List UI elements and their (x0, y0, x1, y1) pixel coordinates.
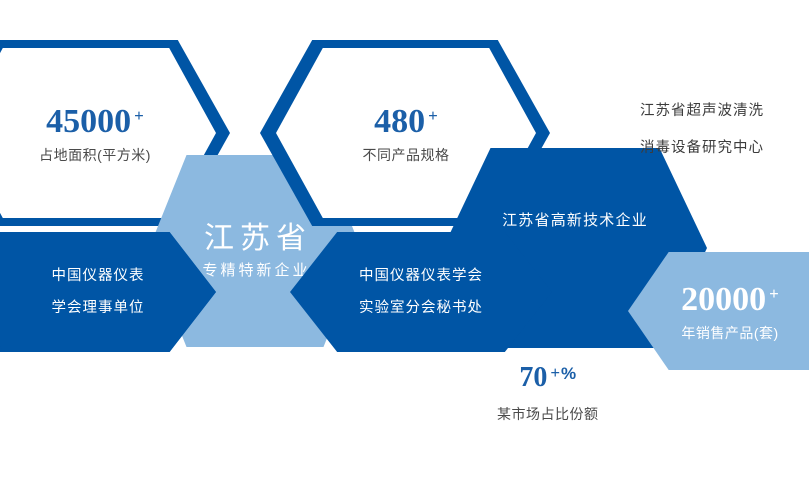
stat-specs-label: 不同产品规格 (363, 148, 450, 162)
stat-specs-number: 480+ (374, 105, 438, 139)
stat-specs: 480+ 不同产品规格 (363, 105, 450, 162)
high-tech-label: 江苏省高新技术企业 (502, 209, 648, 230)
stat-area-label: 占地面积(平方米) (39, 148, 151, 162)
research-center-line-1: 江苏省超声波清洗 (640, 104, 764, 119)
stat-market-share-superscript: + (550, 364, 560, 381)
research-center-text: 江苏省超声波清洗 消毒设备研究中心 (640, 104, 764, 155)
stat-market-share-number: 70+% (519, 362, 576, 394)
stat-area-superscript: + (134, 107, 144, 124)
stat-annual-sales-number: 20000+ (681, 283, 779, 317)
stat-annual-sales-value: 20000 (681, 283, 766, 317)
stat-specs-superscript: + (428, 107, 438, 124)
badge-subtitle: 专精特新企业 (199, 264, 310, 279)
stat-market-share-percent: % (561, 364, 576, 384)
hexagon-lab-branch: 中国仪器仪表学会 实验室分会秘书处 (290, 232, 552, 352)
stat-annual-sales-label: 年销售产品(套) (681, 326, 778, 340)
stat-market-share: 70+% 某市场占比份额 (497, 362, 599, 424)
research-center-line-2: 消毒设备研究中心 (640, 141, 764, 156)
stat-market-share-value: 70 (519, 362, 547, 394)
instrument-society-lines-top: 中国仪器仪表 学会理事单位 (30, 269, 145, 315)
instrument-society-line-1b: 中国仪器仪表 (52, 269, 145, 284)
research-center-lines: 江苏省超声波清洗 消毒设备研究中心 (640, 104, 764, 155)
badge-title: 江苏省 (198, 224, 312, 254)
stat-market-share-label: 某市场占比份额 (497, 404, 599, 424)
stat-area-value: 45000 (46, 105, 131, 139)
instrument-society-line-2b: 学会理事单位 (52, 301, 145, 316)
stat-annual-sales-superscript: + (769, 285, 779, 302)
stat-annual-sales: 20000+ 年销售产品(套) (681, 283, 801, 340)
lab-branch-line-2: 实验室分会秘书处 (359, 301, 483, 316)
stat-area: 45000+ 占地面积(平方米) (21, 105, 151, 162)
stat-area-number: 45000+ (46, 105, 144, 139)
stat-specs-value: 480 (374, 105, 425, 139)
infographic-canvas: 45000+ 占地面积(平方米) 江苏省 专精特新企业 480+ 不同产品规格 … (0, 0, 809, 487)
lab-branch-lines: 中国仪器仪表学会 实验室分会秘书处 (359, 269, 483, 315)
lab-branch-line-1: 中国仪器仪表学会 (359, 269, 483, 284)
